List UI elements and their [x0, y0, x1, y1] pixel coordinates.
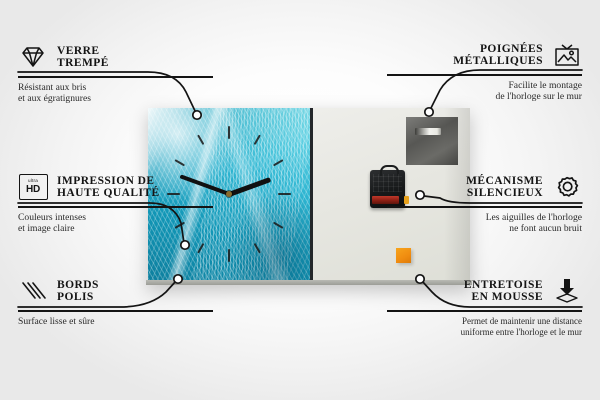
foam-spacer-arrow-icon	[552, 276, 582, 306]
callout-rule	[18, 310, 213, 312]
callout-rule	[387, 74, 582, 76]
infographic-canvas: VERRE TREMPÉ Résistant aux bris et aux é…	[0, 0, 600, 400]
callout-rule	[18, 76, 213, 78]
callout-subtitle: Surface lisse et sûre	[18, 316, 213, 327]
picture-hanger-icon	[552, 40, 582, 70]
callout-title: BORDS POLIS	[57, 279, 99, 304]
callout-bords-polis: BORDS POLIS Surface lisse et sûre	[18, 276, 213, 327]
connector-node-verre	[193, 111, 201, 119]
callout-entretoise-en-mousse: ENTRETOISE EN MOUSSE Permet de maintenir…	[387, 276, 582, 338]
callout-title: MÉCANISME SILENCIEUX	[466, 175, 543, 200]
polished-edges-icon	[18, 276, 48, 306]
callout-verre-trempe: VERRE TREMPÉ Résistant aux bris et aux é…	[18, 42, 213, 104]
ultra-hd-badge-icon: ultra HD	[18, 172, 48, 202]
callout-title: POIGNÉES MÉTALLIQUES	[453, 43, 543, 68]
callout-rule	[18, 206, 213, 208]
diamond-icon	[18, 42, 48, 72]
callout-mecanisme-silencieux: MÉCANISME SILENCIEUX Les aiguilles de l'…	[387, 172, 582, 234]
callout-title: VERRE TREMPÉ	[57, 45, 109, 70]
callout-title: IMPRESSION DE HAUTE QUALITÉ	[57, 175, 160, 200]
connector-node-impression	[181, 241, 189, 249]
callout-subtitle: Résistant aux bris et aux égratignures	[18, 82, 213, 105]
callout-rule	[387, 310, 582, 312]
callout-poignees-metalliques: POIGNÉES MÉTALLIQUES Facilite le montage…	[387, 40, 582, 102]
callout-impression-haute-qualite: ultra HD IMPRESSION DE HAUTE QUALITÉ Cou…	[18, 172, 213, 234]
callout-subtitle: Les aiguilles de l'horloge ne font aucun…	[387, 212, 582, 235]
callout-rule	[387, 206, 582, 208]
callout-subtitle: Couleurs intenses et image claire	[18, 212, 213, 235]
callout-subtitle: Facilite le montage de l'horloge sur le …	[387, 80, 582, 103]
callout-title: ENTRETOISE EN MOUSSE	[464, 279, 543, 304]
connector-node-poignees	[425, 108, 433, 116]
callout-subtitle: Permet de maintenir une distance uniform…	[387, 316, 582, 339]
gear-icon	[552, 172, 582, 202]
